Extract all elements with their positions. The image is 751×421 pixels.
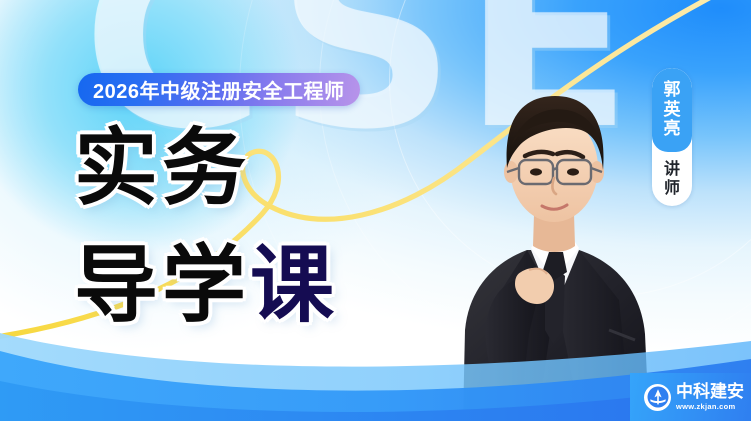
- brand-logo[interactable]: 中科建安 www.zkjan.com: [630, 373, 751, 421]
- instructor-role-block: 讲 师: [652, 152, 692, 206]
- zkjan-emblem-glyph: [647, 386, 669, 408]
- instructor-name-block: 郭 英 亮: [652, 68, 692, 152]
- instructor-name-char-3: 亮: [664, 120, 681, 138]
- page-title-line-2: 导学课: [74, 243, 338, 327]
- instructor-name-char-1: 郭: [664, 81, 681, 99]
- page-title-line-1: 实务: [74, 126, 250, 210]
- brand-logo-text: 中科建安 www.zkjan.com: [676, 383, 744, 411]
- course-category-banner: 2026年中级注册安全工程师: [78, 73, 360, 106]
- instructor-badge: 郭 英 亮 讲 师: [652, 68, 692, 206]
- zkjan-emblem-icon: [644, 384, 671, 411]
- brand-name: 中科建安: [676, 383, 744, 400]
- brand-website: www.zkjan.com: [676, 403, 744, 411]
- course-category-label: 2026年中级注册安全工程师: [93, 75, 345, 104]
- course-promo-poster: CSE CSE: [0, 0, 751, 421]
- instructor-role-char-1: 讲: [664, 161, 680, 178]
- instructor-name-char-2: 英: [664, 101, 681, 119]
- instructor-role-char-2: 师: [664, 180, 680, 197]
- page-title-line-2-part-2: 课: [250, 236, 338, 334]
- page-title-line-2-part-1: 导学: [74, 236, 250, 334]
